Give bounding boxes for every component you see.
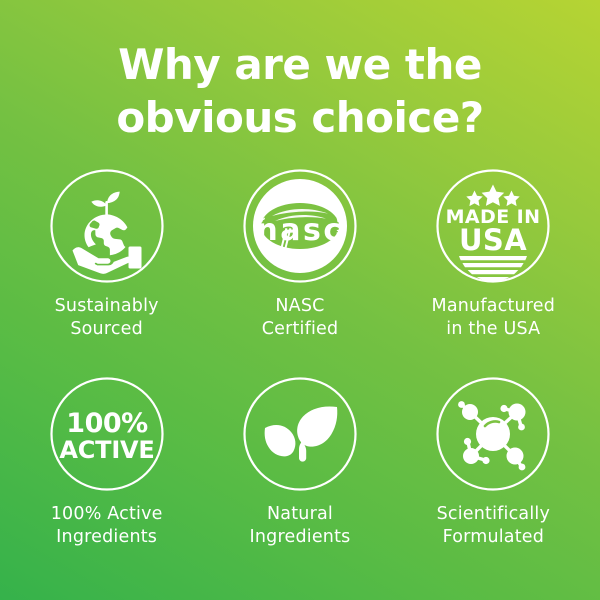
feature-item-nasc-certified: QUALITY SEAL NATIONAL ANIMAL SUPPLEMENT … [203, 168, 396, 376]
leaves-icon [242, 376, 358, 492]
feature-caption-line-1: Scientifically [437, 503, 550, 526]
feature-caption-line-1: NASC [262, 295, 339, 318]
why-choose-us-poster: Why are we the obvious choice? [0, 0, 600, 600]
feature-item-sustainably-sourced: Sustainably Sourced [10, 168, 203, 376]
feature-caption: Sustainably Sourced [55, 295, 159, 341]
feature-caption: Scientifically Formulated [437, 503, 550, 549]
feature-caption-line-2: Ingredients [250, 526, 351, 549]
feature-caption-line-2: Formulated [437, 526, 550, 549]
globe-sprout-in-hand-icon [49, 168, 165, 284]
feature-caption: NASC Certified [262, 295, 339, 341]
stripes-group [459, 256, 527, 281]
feature-item-natural-ingredients: Natural Ingredients [203, 376, 396, 584]
feature-caption: Manufactured in the USA [432, 295, 556, 341]
feature-caption-line-1: Sustainably [55, 295, 159, 318]
feature-caption-line-2: Ingredients [51, 526, 163, 549]
feature-caption-line-1: 100% Active [51, 503, 163, 526]
page-title-line-1: Why are we the [0, 38, 600, 91]
nasc-quality-seal-icon: QUALITY SEAL NATIONAL ANIMAL SUPPLEMENT … [242, 168, 358, 284]
feature-caption: Natural Ingredients [250, 503, 351, 549]
feature-caption-line-1: Natural [250, 503, 351, 526]
feature-caption-line-2: Certified [262, 318, 339, 341]
seal-center-text: nasc [256, 213, 343, 248]
feature-caption-line-2: Sourced [55, 318, 159, 341]
percent-text: 100% [66, 408, 148, 439]
made-in-usa-icon: MADE IN USA [435, 168, 551, 284]
page-title-line-2: obvious choice? [0, 91, 600, 144]
usa-text: USA [459, 223, 527, 257]
feature-caption: 100% Active Ingredients [51, 503, 163, 549]
page-title: Why are we the obvious choice? [0, 38, 600, 144]
feature-item-scientifically-formulated: Scientifically Formulated [397, 376, 590, 584]
feature-item-made-in-usa: MADE IN USA Manufactured in the USA [397, 168, 590, 376]
feature-grid: Sustainably Sourced QUALITY SEAL [10, 168, 590, 584]
feature-caption-line-2: in the USA [432, 318, 556, 341]
active-text: ACTIVE [59, 436, 154, 464]
molecule-icon [435, 376, 551, 492]
stars-group [467, 185, 520, 207]
feature-caption-line-1: Manufactured [432, 295, 556, 318]
feature-item-100-percent-active: 100% ACTIVE 100% Active Ingredients [10, 376, 203, 584]
one-hundred-percent-active-icon: 100% ACTIVE [49, 376, 165, 492]
